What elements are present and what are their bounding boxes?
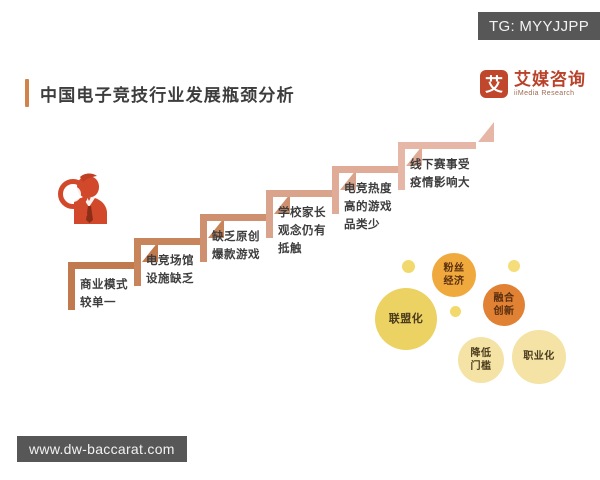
step-6-side-bar (398, 142, 405, 190)
keyword-bubble-3: 融合创新 (483, 284, 525, 326)
step-1-top-bar (68, 262, 140, 269)
step-5-top-bar (332, 166, 404, 173)
step-3-label-line-2: 爆款游戏 (212, 246, 260, 264)
keyword-bubble-1-line-1: 联盟化 (389, 312, 424, 327)
page-title-text: 中国电子竞技行业发展瓶颈分析 (40, 81, 295, 106)
step-3-side-bar (200, 214, 207, 262)
step-6-label-line-1: 线下赛事受 (410, 156, 470, 174)
step-5-label: 电竞热度高的游戏品类少 (344, 180, 392, 234)
logo-mark-icon: 艾 (480, 70, 508, 98)
keyword-bubble-3-line-1: 融合 (494, 292, 515, 306)
step-4-label-line-3: 抵触 (278, 240, 326, 258)
keyword-bubble-2-line-2: 经济 (444, 275, 465, 289)
analyst-with-magnifier-icon (52, 168, 114, 230)
step-2-label: 电竞场馆设施缺乏 (146, 252, 194, 288)
keyword-bubble-2-line-1: 粉丝 (444, 262, 465, 276)
keyword-bubble-4-line-1: 降低 (471, 347, 492, 361)
page-title: 中国电子竞技行业发展瓶颈分析 (25, 79, 295, 107)
step-6-top-bar (398, 142, 476, 149)
keyword-bubble-3-label: 融合创新 (494, 292, 515, 319)
step-3-top-bar (200, 214, 272, 221)
keyword-bubble-2: 粉丝经济 (432, 253, 476, 297)
step-3-label-line-1: 缺乏原创 (212, 228, 260, 246)
infographic-canvas: TG: MYYJJPP 中国电子竞技行业发展瓶颈分析 艾 艾媒咨询 iiMedi… (0, 0, 600, 480)
step-5-side-bar (332, 166, 339, 214)
decorative-dot-3 (450, 306, 461, 317)
keyword-bubble-3-line-2: 创新 (494, 305, 515, 319)
telegram-watermark-badge: TG: MYYJJPP (478, 12, 600, 40)
keyword-bubble-2-label: 粉丝经济 (444, 262, 465, 289)
keyword-bubble-5-line-1: 职业化 (523, 350, 555, 364)
keyword-bubble-5: 职业化 (512, 330, 566, 384)
step-1-label-line-2: 较单一 (80, 294, 128, 312)
keyword-bubble-1: 联盟化 (375, 288, 437, 350)
step-6-label: 线下赛事受疫情影响大 (410, 156, 470, 192)
step-3-label: 缺乏原创爆款游戏 (212, 228, 260, 264)
logo-name-en: iiMedia Research (514, 90, 586, 97)
step-5-label-line-2: 高的游戏 (344, 198, 392, 216)
keyword-bubble-5-label: 职业化 (523, 350, 555, 364)
step-6-label-line-2: 疫情影响大 (410, 174, 470, 192)
logo-name-cn: 艾媒咨询 (514, 71, 586, 89)
step-2-side-bar (134, 238, 141, 286)
keyword-bubble-4-line-2: 门槛 (471, 360, 492, 374)
keyword-bubble-1-label: 联盟化 (389, 312, 424, 327)
keyword-bubble-4: 降低门槛 (458, 337, 504, 383)
step-2-label-line-2: 设施缺乏 (146, 270, 194, 288)
step-1-side-bar (68, 262, 75, 310)
site-watermark-badge: www.dw-baccarat.com (17, 436, 187, 462)
brand-logo: 艾 艾媒咨询 iiMedia Research (480, 70, 586, 98)
step-4-side-bar (266, 190, 273, 238)
step-1-label-line-1: 商业模式 (80, 276, 128, 294)
step-4-label-line-1: 学校家长 (278, 204, 326, 222)
step-2-top-bar (134, 238, 206, 245)
title-accent-bar (25, 79, 29, 107)
step-2-label-line-1: 电竞场馆 (146, 252, 194, 270)
keyword-bubble-4-label: 降低门槛 (471, 347, 492, 374)
step-5-label-line-3: 品类少 (344, 216, 392, 234)
step-1-label: 商业模式较单一 (80, 276, 128, 312)
decorative-dot-2 (508, 260, 520, 272)
decorative-dot-1 (402, 260, 415, 273)
step-4-top-bar (266, 190, 338, 197)
step-4-label: 学校家长观念仍有抵触 (278, 204, 326, 258)
step-6-riser-arrow (478, 122, 494, 142)
step-5-label-line-1: 电竞热度 (344, 180, 392, 198)
step-4-label-line-2: 观念仍有 (278, 222, 326, 240)
